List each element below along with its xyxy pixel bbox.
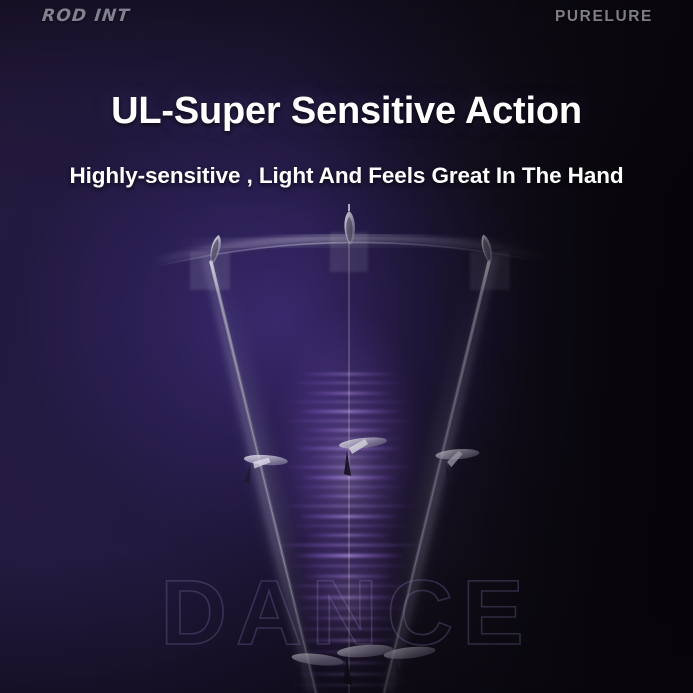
- brand-logo-left: ROD INT: [41, 6, 131, 26]
- page-title: UL-Super Sensitive Action: [0, 90, 693, 133]
- bottom-shadow: [0, 553, 693, 693]
- product-banner: DANCE ROD INT PURELURE UL-Super Sensitiv…: [0, 0, 693, 693]
- brand-logo-right: PURELURE: [555, 8, 653, 26]
- page-subtitle: Highly-sensitive , Light And Feels Great…: [0, 163, 693, 189]
